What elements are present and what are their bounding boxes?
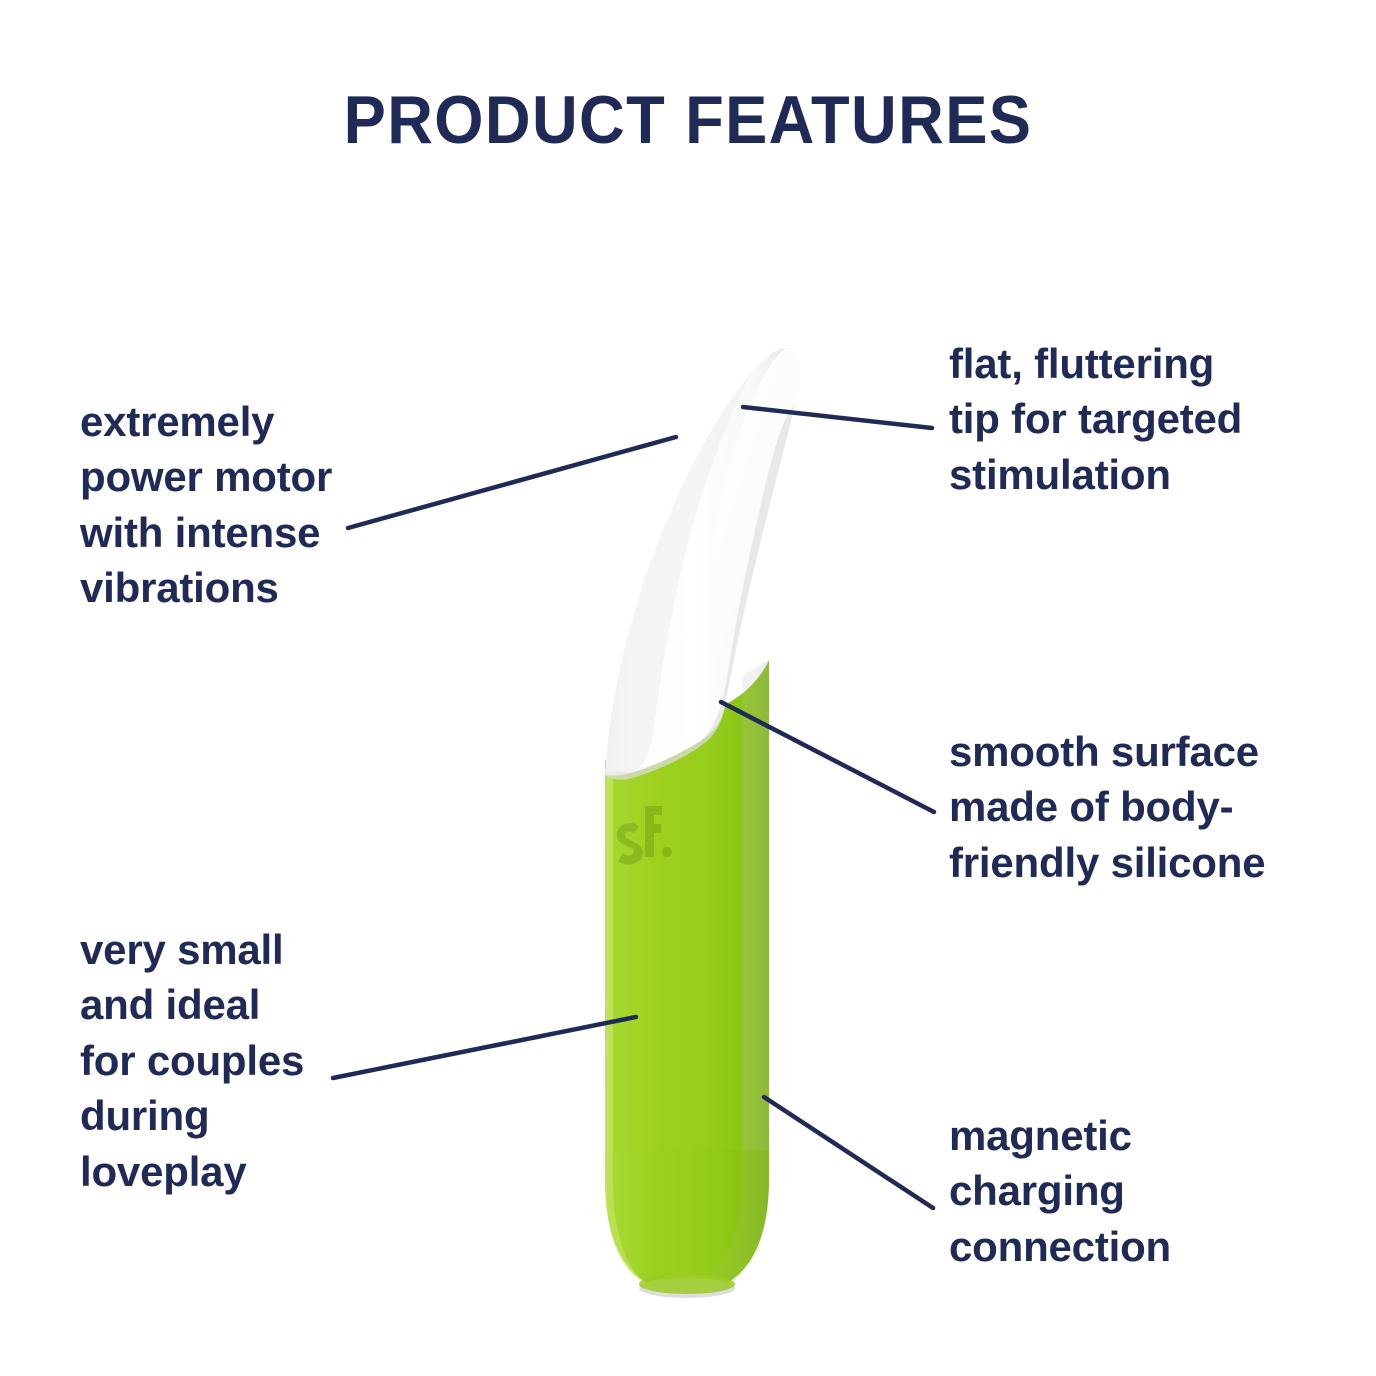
callout-magnetic-charging: magnetic charging connection xyxy=(949,1108,1249,1274)
callout-flat-fluttering-tip: flat, fluttering tip for targeted stimul… xyxy=(949,336,1309,502)
leader-line-magnet xyxy=(764,1097,933,1208)
callout-very-small-couples: very small and ideal for couples during … xyxy=(80,922,380,1199)
callout-extremely-power-motor: extremely power motor with intense vibra… xyxy=(80,394,410,616)
magnetic-charging-contact xyxy=(639,1274,735,1298)
callout-smooth-surface-silicone: smooth surface made of body- friendly si… xyxy=(949,724,1329,890)
infographic-canvas: PRODUCT FEATURES xyxy=(0,0,1376,1376)
product-white-tip xyxy=(605,348,800,780)
